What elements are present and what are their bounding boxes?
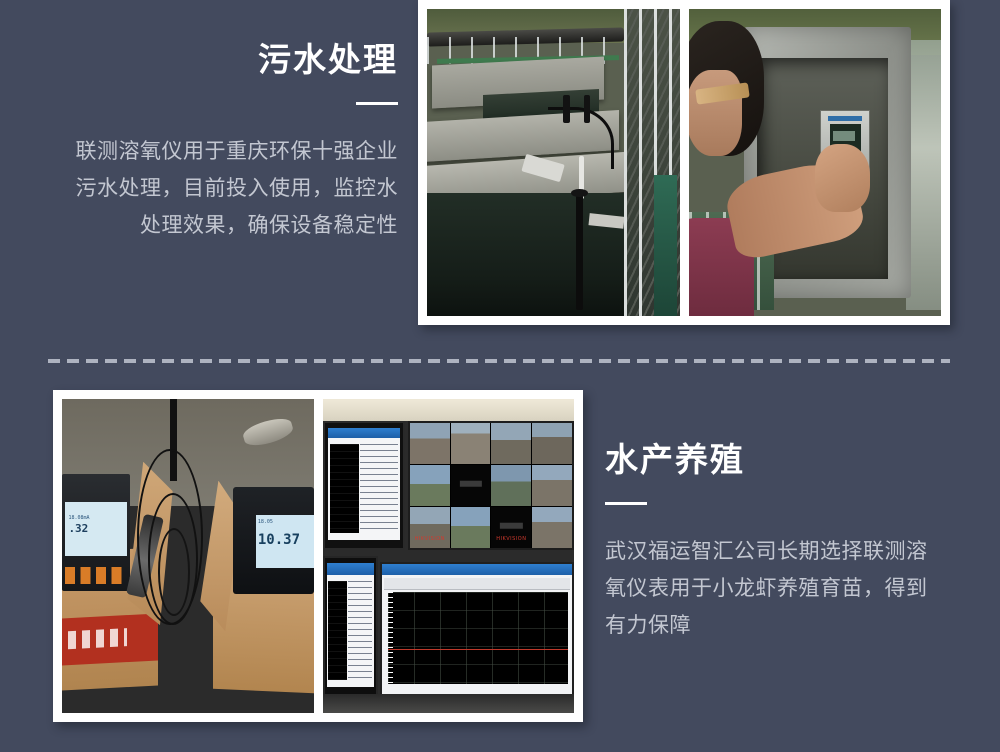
window-chart-area	[330, 444, 359, 534]
probe-pole	[576, 193, 583, 310]
do-meter-screen: 18.05 10.37	[256, 515, 314, 568]
aquaculture-description: 武汉福运智汇公司长期选择联测溶 氧仪表用于小龙虾养殖育苗，得到 有力保障	[605, 533, 928, 644]
room-ceiling	[323, 399, 575, 421]
trend-chart-y-axis	[388, 592, 393, 683]
aquaculture-title: 水产养殖	[605, 440, 745, 480]
do-meter-right: 18.05 10.37	[233, 487, 313, 594]
do-meter-value: 10.37	[258, 533, 300, 547]
cctv-tile-7	[532, 465, 572, 506]
trend-chart-plot	[388, 592, 568, 683]
window-data-rows	[360, 444, 398, 534]
cctv-tile-1	[410, 423, 450, 464]
wastewater-photo-frame	[418, 0, 950, 325]
aquaculture-photo-meters: 18.08mA .32 18.05 10.37	[62, 399, 314, 713]
wastewater-description-line-3: 处理效果，确保设备稳定性	[76, 207, 399, 244]
cctv-tile-6	[491, 465, 531, 506]
probe-head-1	[563, 95, 570, 123]
cctv-tile-no-signal-2: HIKVISION	[491, 507, 531, 548]
window-data-rows-2	[348, 581, 373, 680]
cctv-tile-3	[491, 423, 531, 464]
window-titlebar-2	[327, 563, 374, 574]
cable-coil-inner	[158, 528, 191, 616]
window-chart-area-2	[328, 581, 347, 680]
technician-hand	[815, 144, 871, 212]
aquaculture-title-rule	[605, 502, 647, 505]
box-label-red	[62, 614, 158, 666]
cctv-tile-5	[410, 465, 450, 506]
cctv-tile-no-signal-1	[451, 465, 491, 506]
wastewater-title: 污水处理	[258, 40, 398, 80]
probe-head-2	[584, 95, 591, 123]
monitor-bottom-left	[323, 556, 378, 697]
desk-surface	[323, 694, 575, 713]
case-showcase-page: 污水处理 联测溶氧仪用于重庆环保十强企业 污水处理，目前投入使用，监控水 处理效…	[0, 0, 1000, 752]
wastewater-description-line-1: 联测溶氧仪用于重庆环保十强企业	[76, 133, 399, 170]
scada-window-bottom-left	[327, 563, 374, 687]
ph-meter-left: 18.08mA .32	[62, 474, 130, 590]
no-signal-banner-2	[500, 522, 522, 529]
wastewater-photo-cabinet	[689, 9, 942, 316]
trend-window-titlebar	[382, 564, 572, 575]
scada-window-top	[328, 428, 401, 540]
trend-chart-trace	[388, 649, 568, 650]
cctv-tile-2	[451, 423, 491, 464]
monitor-top-right-cctv-wall: HIKVISION HIKVISION	[408, 421, 574, 550]
window-titlebar	[328, 428, 401, 438]
no-signal-banner-1	[459, 480, 481, 487]
ph-meter-value: .32	[68, 523, 88, 534]
trend-window-toolbar	[384, 578, 570, 590]
hikvision-logo-2: HIKVISION	[496, 536, 526, 542]
basin-water-lower	[427, 193, 639, 316]
aquaculture-photo-monitors: HIKVISION HIKVISION	[323, 399, 575, 713]
wastewater-description: 联测溶氧仪用于重庆环保十强企业 污水处理，目前投入使用，监控水 处理效果，确保设…	[76, 133, 399, 244]
ph-meter-top-readout: 18.08mA	[68, 516, 89, 521]
cctv-tile-9	[451, 507, 491, 548]
aquaculture-description-line-3: 有力保障	[605, 607, 928, 644]
wastewater-title-rule	[356, 102, 398, 105]
cctv-tile-8: HIKVISION	[410, 507, 450, 548]
ph-meter-screen: 18.08mA .32	[65, 502, 127, 555]
cctv-tile-4	[532, 423, 572, 464]
aquaculture-photo-frame: 18.08mA .32 18.05 10.37	[53, 390, 583, 722]
green-fence-panel	[654, 175, 677, 316]
cctv-tile-10	[532, 507, 572, 548]
wastewater-text-block: 污水处理 联测溶氧仪用于重庆环保十强企业 污水处理，目前投入使用，监控水 处理效…	[0, 40, 398, 244]
monitor-top-left	[323, 421, 406, 550]
hikvision-logo-1: HIKVISION	[415, 536, 445, 542]
wastewater-description-line-2: 污水处理，目前投入使用，监控水	[76, 170, 399, 207]
monitor-bottom-right-trend	[380, 562, 574, 700]
transmitter-brand-strip	[828, 116, 863, 121]
aquaculture-text-block: 水产养殖 武汉福运智汇公司长期选择联测溶 氧仪表用于小龙虾养殖育苗，得到 有力保…	[605, 440, 965, 644]
aquaculture-description-line-1: 武汉福运智汇公司长期选择联测溶	[605, 533, 928, 570]
section-divider	[48, 359, 950, 363]
aquaculture-description-line-2: 氧仪表用于小龙虾养殖育苗，得到	[605, 570, 928, 607]
greenhouse-glass	[906, 40, 941, 310]
wastewater-photo-basins	[427, 9, 680, 316]
do-meter-top-readout: 18.05	[258, 520, 273, 525]
ph-meter-keypad	[65, 567, 127, 583]
